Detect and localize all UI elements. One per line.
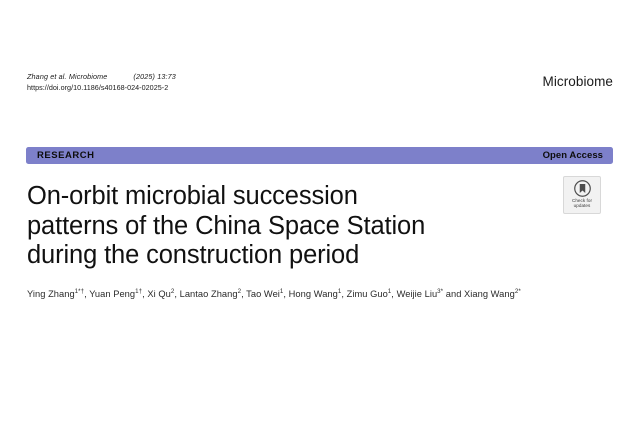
page-title: On-orbit microbial succession patterns o… — [27, 182, 497, 271]
author-affiliation-marker: 2* — [515, 288, 521, 295]
title-line-1: On-orbit microbial succession — [27, 182, 358, 210]
doi-link[interactable]: https://doi.org/10.1186/s40168-024-02025… — [27, 83, 176, 93]
author-name: Xi Qu — [147, 289, 170, 299]
author-name: Weijie Liu — [397, 289, 438, 299]
title-line-2: patterns of the China Space Station — [27, 212, 425, 240]
citation-authors: Zhang et al. Microbiome — [27, 72, 107, 81]
author-affiliation-marker: 3* — [437, 288, 443, 295]
citation-volume: (2025) 13:73 — [133, 72, 176, 81]
title-line-3: during the construction period — [27, 241, 359, 269]
author-affiliation-marker: 1† — [135, 288, 142, 295]
author-name: Xiang Wang — [464, 289, 515, 299]
article-type-label: RESEARCH — [37, 151, 95, 161]
citation-line: Zhang et al. Microbiome(2025) 13:73 — [27, 72, 176, 82]
check-for-updates-badge[interactable]: Check for updates — [563, 176, 601, 214]
author-affiliation-marker: 2 — [171, 288, 175, 295]
author-affiliation-marker: 2 — [238, 288, 242, 295]
author-name: Tao Wei — [246, 289, 280, 299]
crossmark-logo-icon — [574, 180, 591, 197]
author-name: Hong Wang — [289, 289, 338, 299]
author-list: Ying Zhang1*†, Yuan Peng1†, Xi Qu2, Lant… — [27, 287, 582, 302]
journal-name: Microbiome — [543, 74, 613, 89]
author-affiliation-marker: 1 — [280, 288, 284, 295]
author-name: Ying Zhang — [27, 289, 75, 299]
check-for-updates-line-1: Check for — [572, 198, 592, 203]
author-affiliation-marker: 1 — [388, 288, 392, 295]
open-access-banner: RESEARCH Open Access — [26, 147, 613, 164]
open-access-label: Open Access — [543, 151, 603, 161]
masthead: Zhang et al. Microbiome(2025) 13:73 http… — [27, 72, 613, 93]
author-name: Zimu Guo — [347, 289, 388, 299]
check-for-updates-text: Check for updates — [572, 198, 592, 209]
check-for-updates-line-2: updates — [574, 203, 591, 208]
author-name: Lantao Zhang — [180, 289, 238, 299]
article-page: Zhang et al. Microbiome(2025) 13:73 http… — [0, 0, 640, 427]
author-affiliation-marker: 1 — [338, 288, 342, 295]
author-affiliation-marker: 1*† — [75, 288, 84, 295]
citation-block: Zhang et al. Microbiome(2025) 13:73 http… — [27, 72, 176, 93]
author-name: Yuan Peng — [89, 289, 135, 299]
